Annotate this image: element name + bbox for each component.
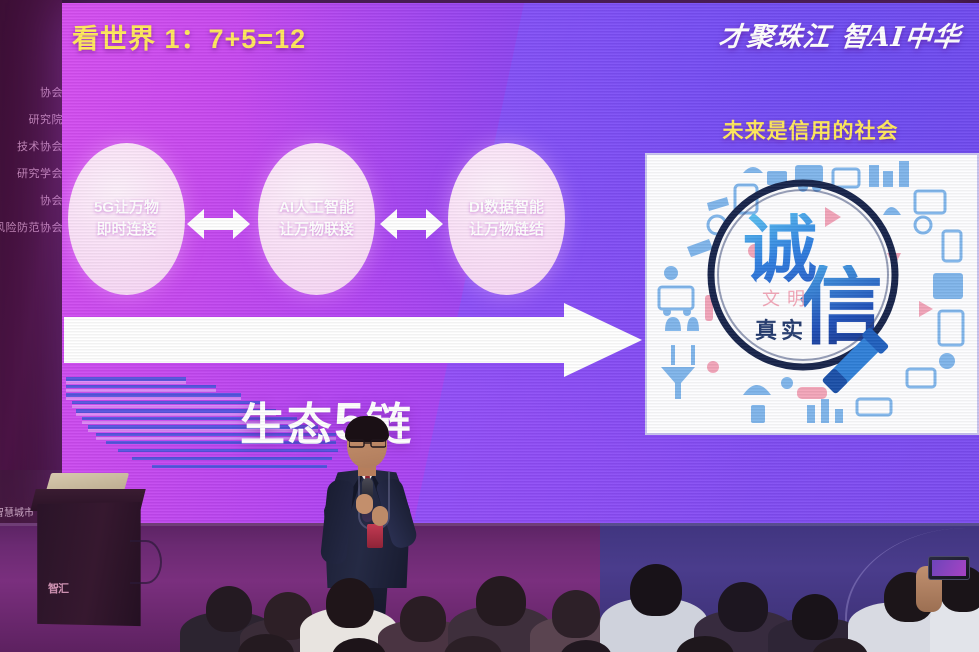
circle-line-1: AI人工智能: [279, 197, 354, 219]
sponsor-line: 协会: [0, 188, 66, 215]
right-arrow-icon: [64, 303, 642, 377]
podium: [37, 502, 140, 626]
circle-line-2: 让万物链结: [469, 219, 544, 241]
speaker-hand-left: [356, 494, 373, 514]
circle-line-1: 5G让万物: [94, 197, 159, 219]
audience-member: [326, 578, 374, 628]
magnifying-glass-icon: [695, 173, 927, 405]
double-arrow-icon: [380, 207, 443, 241]
audience-member: [476, 576, 526, 626]
slide-circle-di: DI数据智能 让万物链结: [448, 143, 565, 295]
podium-brand-mark: 智汇: [48, 580, 108, 594]
lanyard-badge-icon: [367, 524, 383, 548]
audience-member: [552, 590, 600, 638]
circle-line-1: DI数据智能: [469, 197, 544, 219]
microphone-stand: [130, 540, 162, 584]
slide-circle-5g: 5G让万物 即时连接: [68, 143, 185, 295]
sponsor-line: 协会: [0, 80, 66, 107]
sponsor-line: 研究院: [0, 107, 66, 134]
credit-image-panel: 诚 信 文明 真实: [645, 153, 979, 435]
event-logo: 才聚珠江 智AI中华: [717, 15, 963, 54]
panel-caption: 未来是信用的社会: [642, 115, 979, 145]
circle-line-2: 即时连接: [96, 219, 156, 241]
stage-edge-line: [0, 523, 979, 526]
projected-slide: 看世界 1：7+5=12 才聚珠江 智AI中华: [62, 3, 979, 523]
sponsor-line: 风险防范协会: [0, 215, 66, 242]
sponsor-line: 技术协会: [0, 134, 66, 161]
circle-line-2: 让万物联接: [279, 219, 354, 241]
slide-title: 看世界 1：7+5=12: [72, 17, 306, 56]
slide-circle-ai: AI人工智能 让万物联接: [258, 143, 375, 295]
audience-member: [206, 586, 252, 632]
double-arrow-icon: [187, 207, 250, 241]
conference-photo: 协会 研究院 技术协会 研究学会 协会 风险防范协会 智慧城市 www.exam…: [0, 0, 979, 652]
audience-member: [792, 594, 838, 640]
smartphone-icon: [928, 556, 970, 580]
left-wall-sponsor-list: 协会 研究院 技术协会 研究学会 协会 风险防范协会: [0, 80, 66, 242]
audience-member: [630, 564, 682, 616]
eyeglasses-icon: [349, 439, 386, 448]
speaker-figure: [310, 420, 420, 610]
phone-screen: [932, 560, 966, 576]
sponsor-line: 研究学会: [0, 161, 66, 188]
speaker-hand-right: [372, 506, 388, 526]
audience-member: [400, 596, 446, 642]
audience-member: [718, 582, 768, 632]
